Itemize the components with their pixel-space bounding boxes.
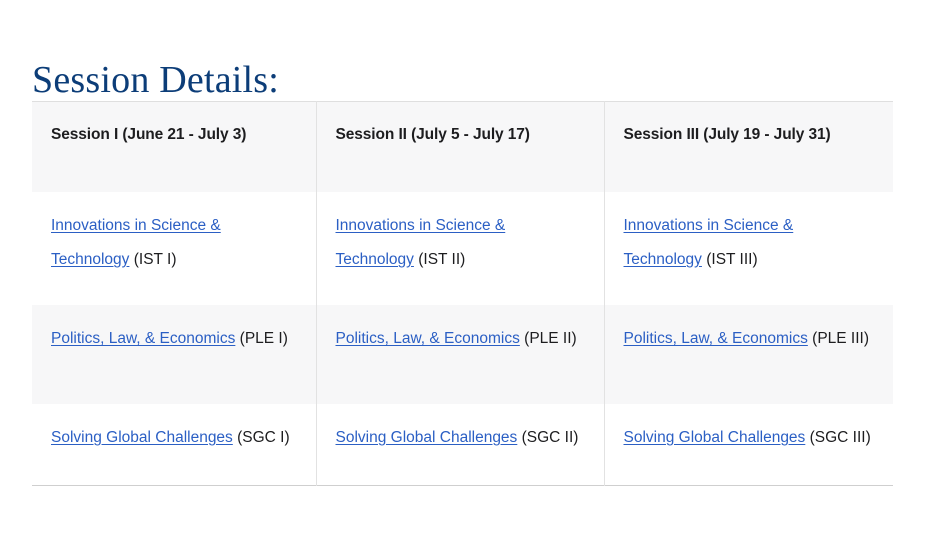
page-root: Session Details: Session I (June 21 - Ju… [0,0,927,538]
cell-ple-session-2: Politics, Law, & Economics (PLE II) [316,305,604,404]
program-link-sgc-2[interactable]: Solving Global Challenges [336,429,518,446]
cell-ist-session-1: Innovations in Science & Technology (IST… [32,192,316,305]
program-code-ple-1: (PLE I) [235,330,288,347]
cell-sgc-session-2: Solving Global Challenges (SGC II) [316,404,604,486]
program-code-ist-3: (IST III) [702,251,758,268]
session-details-table: Session I (June 21 - July 3) Session II … [32,101,893,486]
table-header: Session I (June 21 - July 3) Session II … [32,102,893,193]
program-code-ple-3: (PLE III) [808,330,869,347]
page-title: Session Details: [32,58,279,102]
program-link-sgc-3[interactable]: Solving Global Challenges [624,429,806,446]
program-code-sgc-1: (SGC I) [233,429,290,446]
session-details-table-container: Session I (June 21 - July 3) Session II … [32,101,893,486]
cell-sgc-session-3: Solving Global Challenges (SGC III) [604,404,893,486]
program-link-ple-1[interactable]: Politics, Law, & Economics [51,330,235,347]
column-header-session-3: Session III (July 19 - July 31) [604,102,893,193]
column-header-session-1: Session I (June 21 - July 3) [32,102,316,193]
program-code-ist-1: (IST I) [129,251,176,268]
table-row: Politics, Law, & Economics (PLE I) Polit… [32,305,893,404]
table-header-row: Session I (June 21 - July 3) Session II … [32,102,893,193]
table-row: Solving Global Challenges (SGC I) Solvin… [32,404,893,486]
program-link-ple-2[interactable]: Politics, Law, & Economics [336,330,520,347]
program-link-sgc-1[interactable]: Solving Global Challenges [51,429,233,446]
table-row: Innovations in Science & Technology (IST… [32,192,893,305]
program-link-ple-3[interactable]: Politics, Law, & Economics [624,330,808,347]
cell-ist-session-3: Innovations in Science & Technology (IST… [604,192,893,305]
program-code-ple-2: (PLE II) [520,330,577,347]
program-code-sgc-2: (SGC II) [517,429,578,446]
program-code-sgc-3: (SGC III) [805,429,870,446]
program-code-ist-2: (IST II) [414,251,465,268]
column-header-session-2: Session II (July 5 - July 17) [316,102,604,193]
cell-ist-session-2: Innovations in Science & Technology (IST… [316,192,604,305]
cell-ple-session-3: Politics, Law, & Economics (PLE III) [604,305,893,404]
cell-sgc-session-1: Solving Global Challenges (SGC I) [32,404,316,486]
cell-ple-session-1: Politics, Law, & Economics (PLE I) [32,305,316,404]
table-body: Innovations in Science & Technology (IST… [32,192,893,486]
